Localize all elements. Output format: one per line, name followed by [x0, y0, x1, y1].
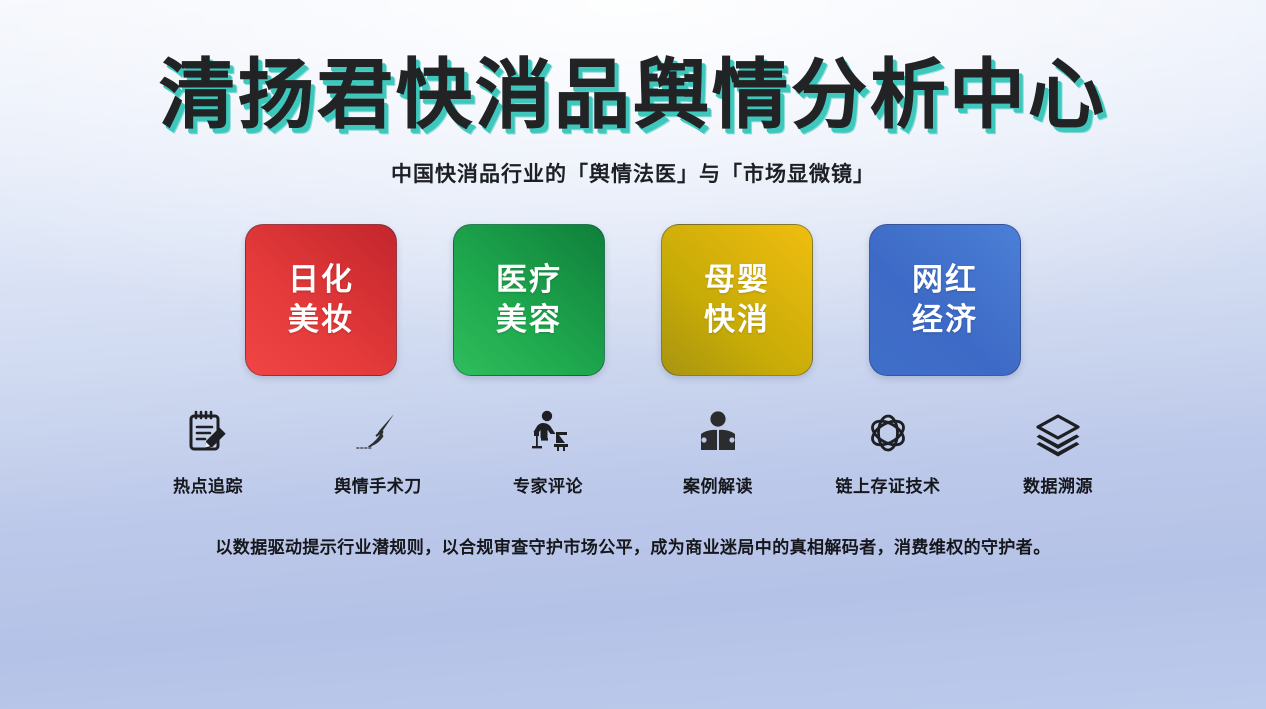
category-card-muying-kuaixiao[interactable]: 母婴 快消 [661, 224, 813, 376]
feature-item-hotspot-tracking[interactable]: 热点追踪 [138, 406, 278, 497]
atom-icon [863, 406, 913, 460]
poster-canvas: 清扬君快消品舆情分析中心 中国快消品行业的「舆情法医」与「市场显微镜」 日化 美… [0, 0, 1266, 709]
feature-item-case-interpretation[interactable]: 案例解读 [648, 406, 788, 497]
card-title-line-2: 美容 [496, 300, 562, 340]
scalpel-icon [353, 406, 403, 460]
notepad-pencil-icon [183, 406, 233, 460]
title-block: 清扬君快消品舆情分析中心 中国快消品行业的「舆情法医」与「市场显微镜」 [0, 0, 1266, 188]
feature-label: 热点追踪 [173, 472, 243, 497]
feature-label: 案例解读 [683, 472, 753, 497]
card-title-line-1: 医疗 [496, 260, 562, 300]
card-title-line-2: 美妆 [288, 300, 354, 340]
feature-item-opinion-scalpel[interactable]: 舆情手术刀 [308, 406, 448, 497]
feature-label: 链上存证技术 [836, 472, 941, 497]
card-title-line-1: 日化 [288, 260, 354, 300]
feature-item-data-provenance[interactable]: 数据溯源 [988, 406, 1128, 497]
feature-item-expert-commentary[interactable]: 专家评论 [478, 406, 618, 497]
card-title-line-2: 快消 [704, 300, 770, 340]
person-reading-book-icon [693, 406, 743, 460]
category-card-yiliao-meirong[interactable]: 医疗 美容 [453, 224, 605, 376]
card-title-line-1: 母婴 [704, 260, 770, 300]
layers-stack-icon [1033, 406, 1083, 460]
page-title: 清扬君快消品舆情分析中心 [0, 54, 1266, 136]
feature-item-onchain-evidence[interactable]: 链上存证技术 [818, 406, 958, 497]
page-subtitle: 中国快消品行业的「舆情法医」与「市场显微镜」 [0, 158, 1266, 188]
feature-label: 舆情手术刀 [334, 472, 422, 497]
card-title-line-1: 网红 [912, 260, 978, 300]
feature-label: 专家评论 [513, 472, 583, 497]
card-title-line-2: 经济 [912, 300, 978, 340]
category-card-list: 日化 美妆 医疗 美容 母婴 快消 网红 经济 [0, 224, 1266, 376]
category-card-rihua-meizhuang[interactable]: 日化 美妆 [245, 224, 397, 376]
footer-tagline: 以数据驱动提示行业潜规则，以合规审查守护市场公平，成为商业迷局中的真相解码者，消… [0, 533, 1266, 558]
feature-label: 数据溯源 [1023, 472, 1093, 497]
feature-list: 热点追踪 舆情手术刀 [0, 406, 1266, 497]
category-card-wanghong-jingji[interactable]: 网红 经济 [869, 224, 1021, 376]
person-at-desk-icon [523, 406, 573, 460]
